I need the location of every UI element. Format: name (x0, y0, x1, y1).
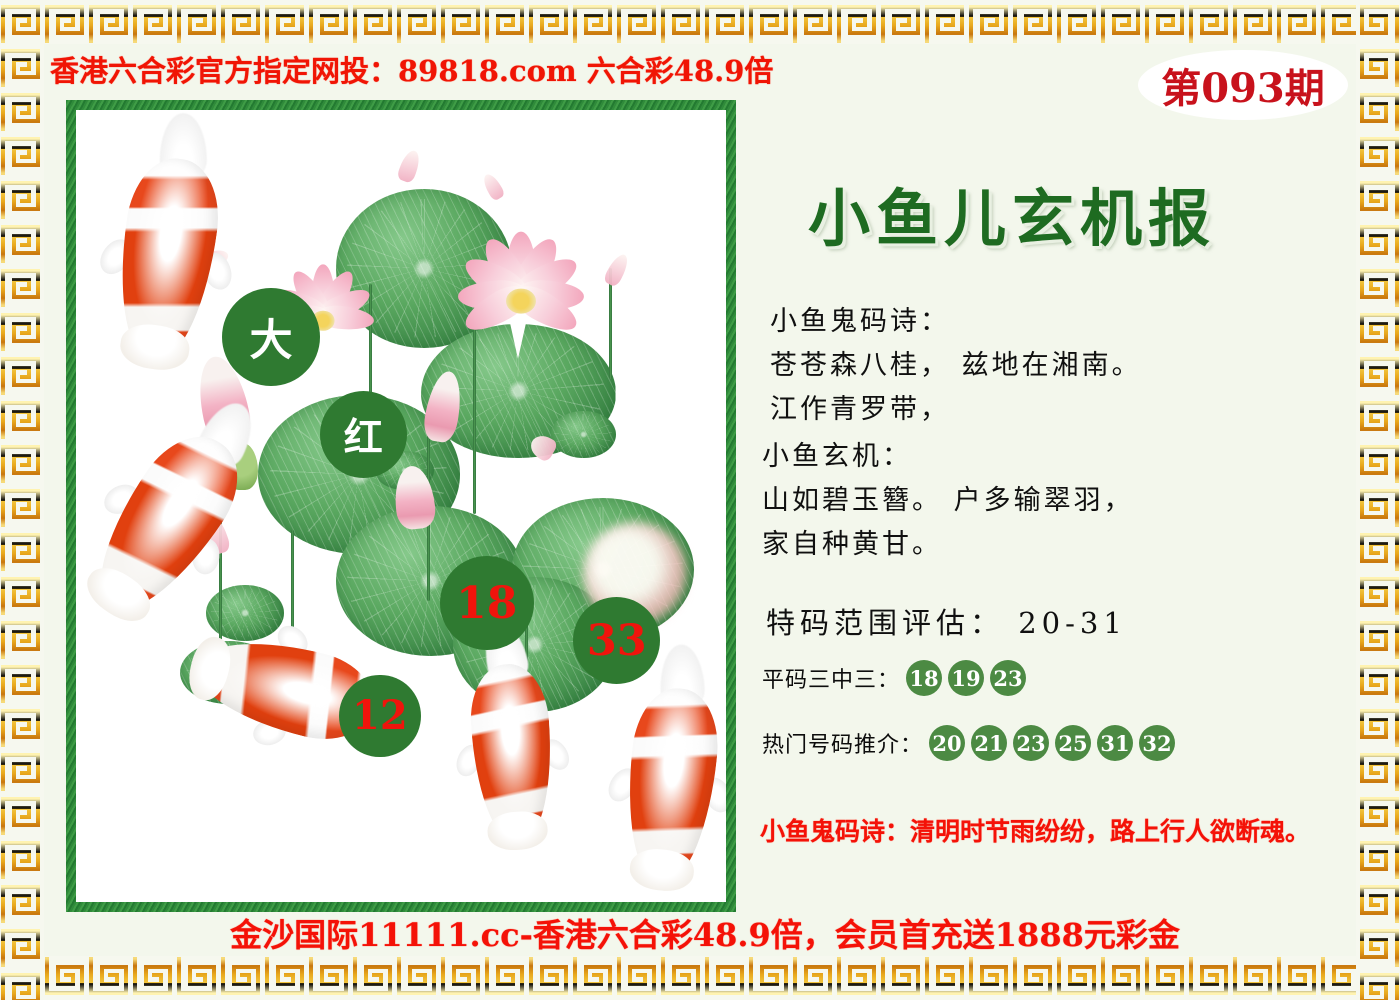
poem-block-2: 小鱼玄机： 山如碧玉簪。 户多输翠羽， 家自种黄甘。 (762, 435, 1322, 567)
page-title: 小鱼儿玄机报 (762, 168, 1262, 258)
poem2-label: 小鱼玄机： (762, 435, 1322, 479)
poem2-line-1: 山如碧玉簪。 户多输翠羽， (762, 479, 1322, 523)
illustration-frame: 大 红 18 33 12 (66, 100, 736, 912)
overlay-circle-33: 33 (573, 597, 660, 684)
falling-petal-icon (602, 251, 631, 288)
info-panel: 小鱼儿玄机报 小鱼鬼码诗： 苍苍森八桂， 兹地在湘南。 江作青罗带， 小鱼玄机：… (752, 100, 1352, 912)
special-range-text: 特码范围评估： 20-31 (766, 600, 1326, 642)
falling-petal-icon (480, 172, 506, 202)
three-of-three-label: 平码三中三： (762, 662, 900, 694)
lotus-pad-icon (551, 411, 616, 459)
number-ball[interactable]: 18 (906, 660, 942, 696)
issue-badge: 第093期 (1138, 50, 1348, 120)
hot-numbers-label: 热门号码推介： (762, 727, 923, 759)
lottery-poster: 香港六合彩官方指定网投：89818.com 六合彩48.9倍 第093期 (0, 0, 1400, 1000)
overlay-circle-big: 大 (222, 288, 320, 386)
poem1-line-1: 苍苍森八桂， 兹地在湘南。 (762, 344, 1322, 388)
poem-block-1: 小鱼鬼码诗： 苍苍森八桂， 兹地在湘南。 江作青罗带， (762, 300, 1322, 432)
number-ball[interactable]: 25 (1055, 725, 1091, 761)
footer-promo-text: 金沙国际11111.cc-香港六合彩48.9倍，会员首充送1888元彩金 (60, 910, 1350, 956)
falling-petal-icon (396, 148, 423, 184)
three-of-three-row: 平码三中三： 18 19 23 (762, 660, 1026, 696)
number-ball[interactable]: 19 (948, 660, 984, 696)
poem2-line-2: 家自种黄甘。 (762, 523, 1322, 567)
koi-fish-icon (467, 662, 557, 841)
issue-label: 第093期 (1161, 56, 1325, 114)
lotus-flower-icon (453, 237, 590, 364)
poem1-label: 小鱼鬼码诗： (762, 300, 1322, 344)
overlay-circle-red-word: 红 (320, 391, 407, 478)
number-ball[interactable]: 21 (971, 725, 1007, 761)
overlay-circle-18: 18 (440, 556, 534, 650)
poem1-line-2: 江作青罗带， (762, 388, 1322, 432)
koi-fish-icon (108, 152, 226, 361)
red-note-text: 小鱼鬼码诗：清明时节雨纷纷，路上行人欲断魂。 (760, 812, 1370, 848)
hot-numbers-row: 热门号码推介： 20 21 23 25 31 32 (762, 725, 1175, 761)
number-ball[interactable]: 23 (1013, 725, 1049, 761)
number-ball[interactable]: 31 (1097, 725, 1133, 761)
lotus-koi-scene (76, 110, 726, 902)
overlay-circle-12: 12 (339, 675, 420, 757)
number-ball[interactable]: 23 (990, 660, 1026, 696)
illustration-photo: 大 红 18 33 12 (76, 110, 726, 902)
header-promo-text: 香港六合彩官方指定网投：89818.com 六合彩48.9倍 (50, 48, 773, 90)
number-ball[interactable]: 32 (1139, 725, 1175, 761)
number-ball[interactable]: 20 (929, 725, 965, 761)
koi-fish-icon (619, 684, 723, 882)
